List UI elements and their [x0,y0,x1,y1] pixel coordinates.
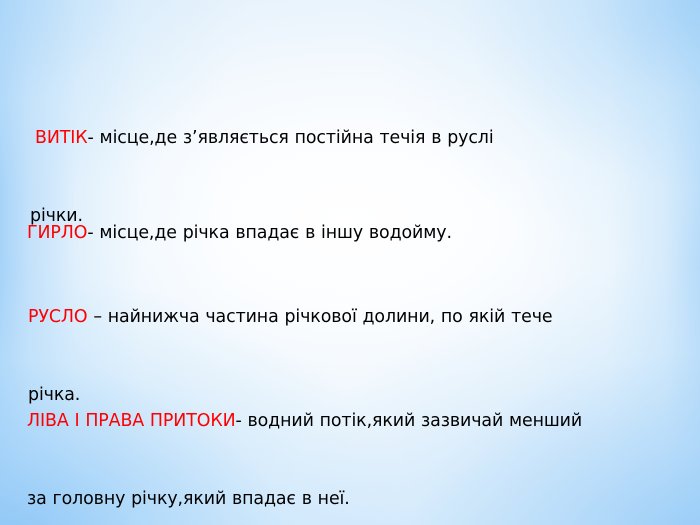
definition-vytik-line-1: ВИТІК- місце,де з’являється постійна теч… [30,125,682,151]
definition-prytoky-line-1: ЛІВА І ПРАВА ПРИТОКИ- водний потік,який … [27,408,696,434]
definition-prytoky-term: ЛІВА І ПРАВА ПРИТОКИ [27,411,235,431]
definition-vytik-term: ВИТІК [35,128,88,148]
definition-gyrlo-line-1: ГИРЛО- місце,де річка впадає в іншу водо… [27,220,682,246]
slide-canvas: ВИТІК- місце,де з’являється постійна теч… [0,0,700,525]
definition-ruslo-text-1: – найнижча частина річкової долини, по я… [88,307,553,327]
definition-gyrlo-term: ГИРЛО [27,223,87,243]
definition-prytoky-text-2: за головну річку,який впадає в неї. [27,489,350,509]
definition-ruslo-term: РУСЛО [28,307,88,327]
definition-ruslo-line-1: РУСЛО – найнижча частина річкової долини… [28,304,674,330]
definition-prytoky-text-1: - водний потік,який зазвичай менший [235,411,582,431]
definition-gyrlo-text-1: - місце,де річка впадає в іншу водойму. [87,223,452,243]
slide-text-body: ВИТІК- місце,де з’являється постійна теч… [0,0,700,525]
definition-prytoky-line-2: за головну річку,який впадає в неї. [27,486,696,512]
definition-prytoky: ЛІВА І ПРАВА ПРИТОКИ- водний потік,який … [0,356,700,525]
definition-vytik-text-1: - місце,де з’являється постійна течія в … [88,128,494,148]
